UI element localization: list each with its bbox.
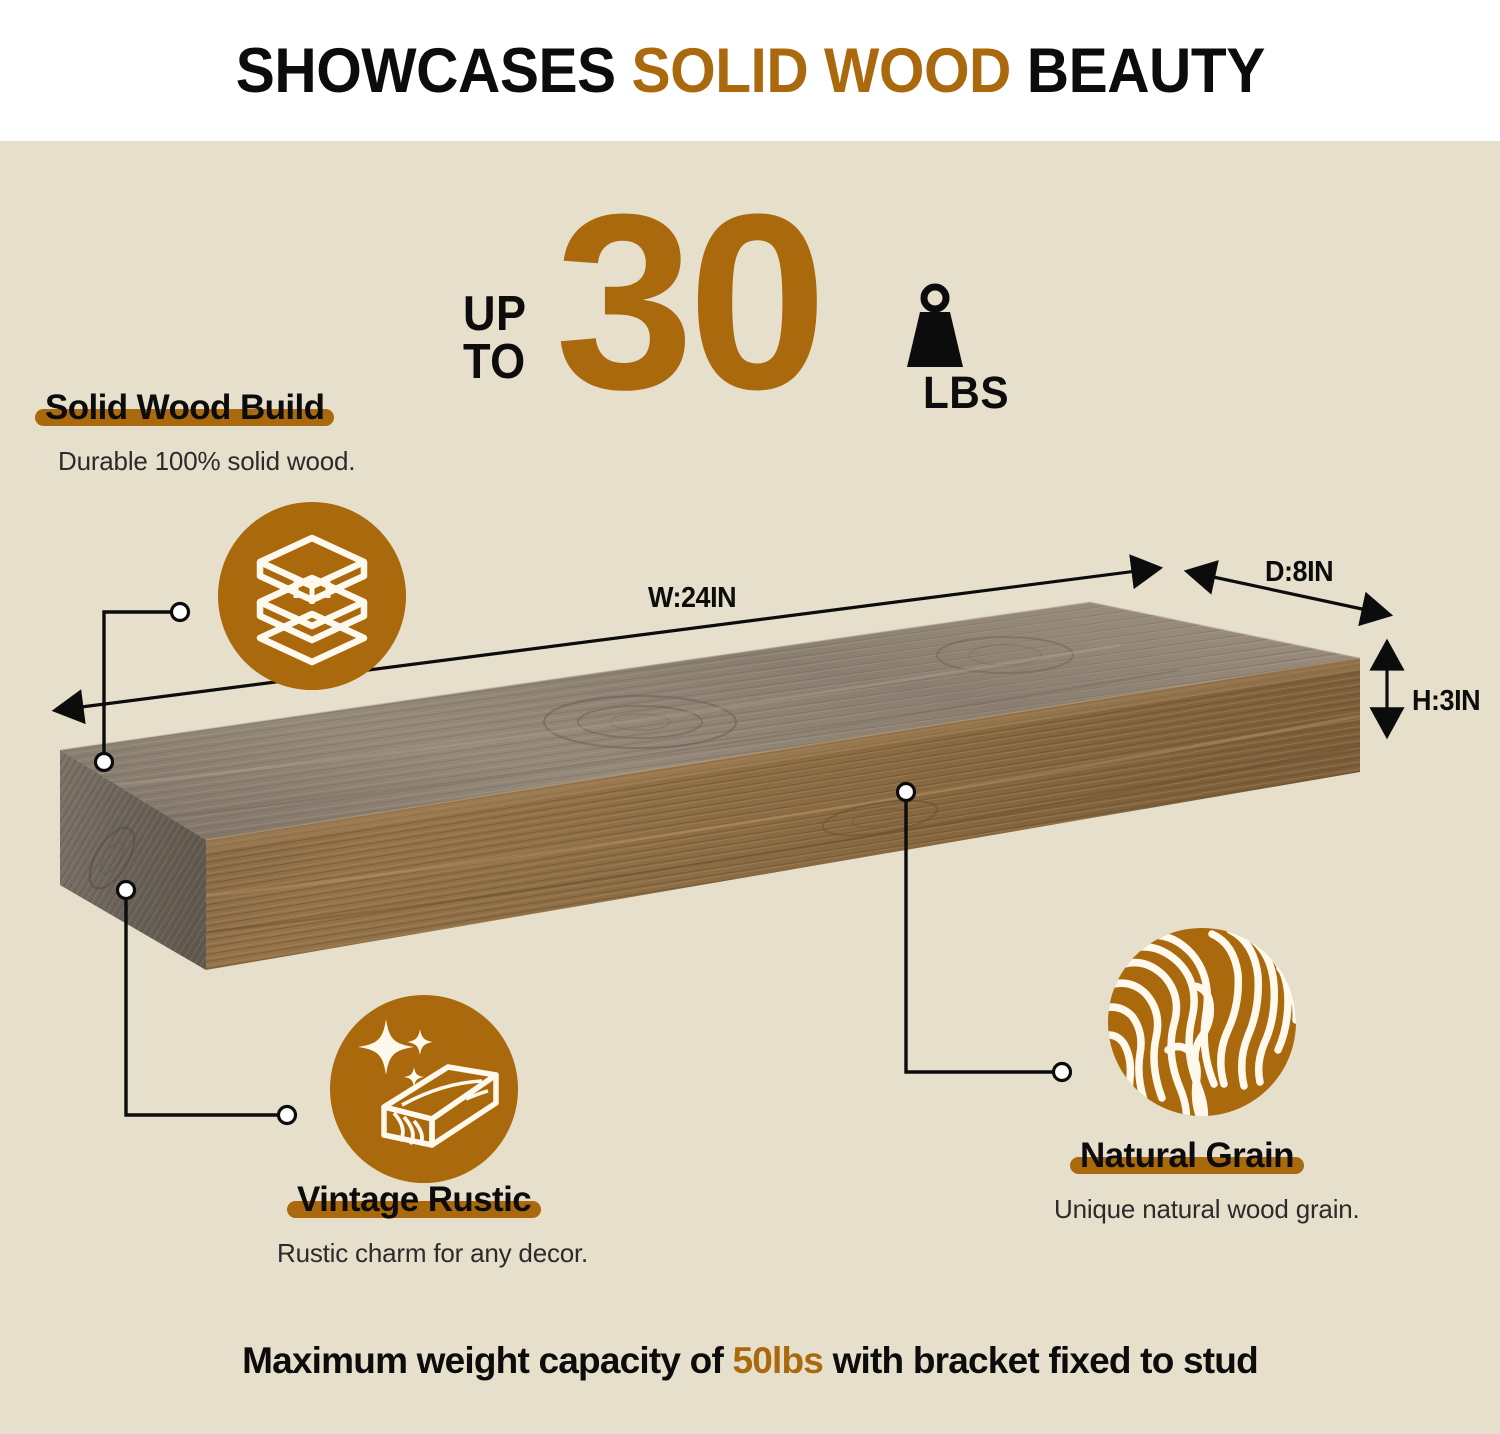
leader-solid-wood-build [96,604,189,771]
leader-natural-grain [898,784,1071,1081]
feature-title-wrap: Vintage Rustic [297,1180,531,1220]
wood-plank-sparkle-icon [330,995,518,1183]
feature-subtitle: Rustic charm for any decor. [277,1238,588,1269]
feature-title: Solid Wood Build [45,388,324,428]
footer-caption: Maximum weight capacity of 50lbs with br… [0,1340,1500,1382]
footer-text-before: Maximum weight capacity of [242,1340,732,1381]
feature-subtitle: Durable 100% solid wood. [58,446,355,477]
feature-natural-grain: Natural Grain Unique natural wood grain. [1080,1136,1360,1225]
footer-highlight: 50lbs [732,1340,823,1381]
feature-title-wrap: Solid Wood Build [45,388,324,428]
feature-solid-wood-build: Solid Wood Build Durable 100% solid wood… [45,388,355,477]
layered-wood-slabs-icon [218,502,406,690]
feature-title: Natural Grain [1080,1136,1294,1176]
feature-subtitle: Unique natural wood grain. [1054,1194,1360,1225]
footer-text-after: with bracket fixed to stud [823,1340,1258,1381]
infographic-root: SHOWCASES SOLID WOOD BEAUTY UP TO 30 LBS [0,0,1500,1434]
feature-title-wrap: Natural Grain [1080,1136,1294,1176]
feature-title: Vintage Rustic [297,1180,531,1220]
leader-vintage-rustic [118,882,296,1124]
feature-vintage-rustic: Vintage Rustic Rustic charm for any deco… [297,1180,588,1269]
wood-grain-fingerprint-icon [1108,928,1296,1116]
